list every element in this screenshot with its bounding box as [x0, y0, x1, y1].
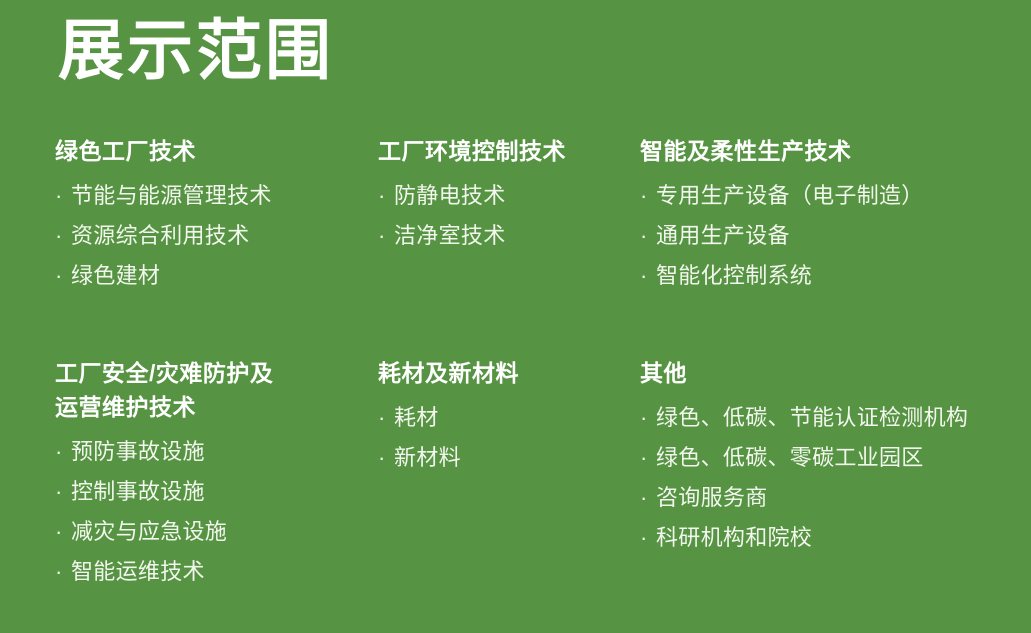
- bullet-dot-icon: ·: [55, 256, 71, 296]
- section-item-list: · 专用生产设备（电子制造） · 通用生产设备 · 智能化控制系统: [640, 176, 1031, 296]
- page-title: 展示范围: [58, 14, 334, 88]
- bullet-dot-icon: ·: [55, 176, 71, 216]
- section-heading: 工厂安全/灾难防护及 运营维护技术: [55, 356, 305, 424]
- bullet-dot-icon: ·: [640, 398, 656, 438]
- list-item-label: 智能运维技术: [71, 552, 205, 592]
- section-item-list: · 耗材 · 新材料: [378, 398, 640, 478]
- bullet-dot-icon: ·: [640, 256, 656, 296]
- bullet-dot-icon: ·: [378, 216, 394, 256]
- list-item: · 科研机构和院校: [640, 518, 1031, 558]
- list-item-label: 洁净室技术: [394, 216, 506, 256]
- section-heading-line-2: 运营维护技术: [55, 394, 196, 420]
- sections-row-bottom: 工厂安全/灾难防护及 运营维护技术 · 预防事故设施 · 控制事故设施 · 减灾…: [0, 352, 1031, 592]
- list-item: · 专用生产设备（电子制造）: [640, 176, 1031, 216]
- section-heading: 绿色工厂技术: [55, 134, 378, 168]
- bullet-dot-icon: ·: [378, 398, 394, 438]
- section-item-list: · 绿色、低碳、节能认证检测机构 · 绿色、低碳、零碳工业园区 · 咨询服务商 …: [640, 398, 1031, 558]
- list-item-label: 减灾与应急设施: [71, 512, 227, 552]
- list-item: · 节能与能源管理技术: [55, 176, 378, 216]
- section-others: 其他 · 绿色、低碳、节能认证检测机构 · 绿色、低碳、零碳工业园区 · 咨询服…: [640, 356, 1031, 558]
- section-heading: 智能及柔性生产技术: [640, 134, 1031, 168]
- list-item-label: 控制事故设施: [71, 472, 205, 512]
- list-item-label: 预防事故设施: [71, 432, 205, 472]
- bullet-dot-icon: ·: [640, 176, 656, 216]
- list-item-label: 防静电技术: [394, 176, 506, 216]
- section-item-list: · 防静电技术 · 洁净室技术: [378, 176, 640, 256]
- list-item: · 资源综合利用技术: [55, 216, 378, 256]
- list-item-label: 绿色、低碳、零碳工业园区: [656, 438, 924, 478]
- list-item: · 智能化控制系统: [640, 256, 1031, 296]
- list-item-label: 新材料: [394, 438, 461, 478]
- list-item: · 绿色、低碳、节能认证检测机构: [640, 398, 1031, 438]
- list-item-label: 绿色建材: [71, 256, 160, 296]
- list-item-label: 专用生产设备（电子制造）: [656, 176, 924, 216]
- list-item: · 预防事故设施: [55, 432, 378, 472]
- list-item-label: 资源综合利用技术: [71, 216, 249, 256]
- bullet-dot-icon: ·: [55, 552, 71, 592]
- section-heading: 耗材及新材料: [378, 356, 640, 390]
- section-factory-environment-control-technology: 工厂环境控制技术 · 防静电技术 · 洁净室技术: [378, 134, 640, 256]
- bullet-dot-icon: ·: [55, 512, 71, 552]
- list-item-label: 绿色、低碳、节能认证检测机构: [656, 398, 968, 438]
- bullet-dot-icon: ·: [378, 176, 394, 216]
- list-item-label: 科研机构和院校: [656, 518, 812, 558]
- section-green-factory-technology: 绿色工厂技术 · 节能与能源管理技术 · 资源综合利用技术 · 绿色建材: [0, 134, 378, 296]
- sections-row-top: 绿色工厂技术 · 节能与能源管理技术 · 资源综合利用技术 · 绿色建材: [0, 134, 1031, 352]
- list-item: · 咨询服务商: [640, 478, 1031, 518]
- list-item-label: 节能与能源管理技术: [71, 176, 272, 216]
- list-item: · 耗材: [378, 398, 640, 438]
- poster-canvas: 展示范围 绿色工厂技术 · 节能与能源管理技术 · 资源综合利用技术 · 绿: [0, 0, 1031, 633]
- bullet-dot-icon: ·: [55, 472, 71, 512]
- list-item: · 通用生产设备: [640, 216, 1031, 256]
- section-item-list: · 预防事故设施 · 控制事故设施 · 减灾与应急设施 · 智能运维技术: [55, 432, 378, 592]
- list-item: · 防静电技术: [378, 176, 640, 216]
- section-factory-safety-disaster-protection-operation-maintenance: 工厂安全/灾难防护及 运营维护技术 · 预防事故设施 · 控制事故设施 · 减灾…: [0, 356, 378, 592]
- bullet-dot-icon: ·: [378, 438, 394, 478]
- list-item: · 绿色、低碳、零碳工业园区: [640, 438, 1031, 478]
- bullet-dot-icon: ·: [640, 478, 656, 518]
- section-intelligent-flexible-production-technology: 智能及柔性生产技术 · 专用生产设备（电子制造） · 通用生产设备 · 智能化控…: [640, 134, 1031, 296]
- list-item: · 新材料: [378, 438, 640, 478]
- list-item: · 减灾与应急设施: [55, 512, 378, 552]
- bullet-dot-icon: ·: [55, 432, 71, 472]
- section-item-list: · 节能与能源管理技术 · 资源综合利用技术 · 绿色建材: [55, 176, 378, 296]
- bullet-dot-icon: ·: [640, 216, 656, 256]
- sections-grid: 绿色工厂技术 · 节能与能源管理技术 · 资源综合利用技术 · 绿色建材: [0, 134, 1031, 592]
- list-item-label: 耗材: [394, 398, 439, 438]
- section-heading: 其他: [640, 356, 1031, 390]
- list-item: · 洁净室技术: [378, 216, 640, 256]
- list-item-label: 智能化控制系统: [656, 256, 812, 296]
- section-consumables-new-materials: 耗材及新材料 · 耗材 · 新材料: [378, 356, 640, 478]
- section-heading: 工厂环境控制技术: [378, 134, 640, 168]
- list-item: · 绿色建材: [55, 256, 378, 296]
- list-item-label: 咨询服务商: [656, 478, 768, 518]
- bullet-dot-icon: ·: [640, 438, 656, 478]
- list-item: · 智能运维技术: [55, 552, 378, 592]
- bullet-dot-icon: ·: [640, 518, 656, 558]
- section-heading-line-1: 工厂安全/灾难防护及: [55, 360, 273, 386]
- bullet-dot-icon: ·: [55, 216, 71, 256]
- list-item-label: 通用生产设备: [656, 216, 790, 256]
- list-item: · 控制事故设施: [55, 472, 378, 512]
